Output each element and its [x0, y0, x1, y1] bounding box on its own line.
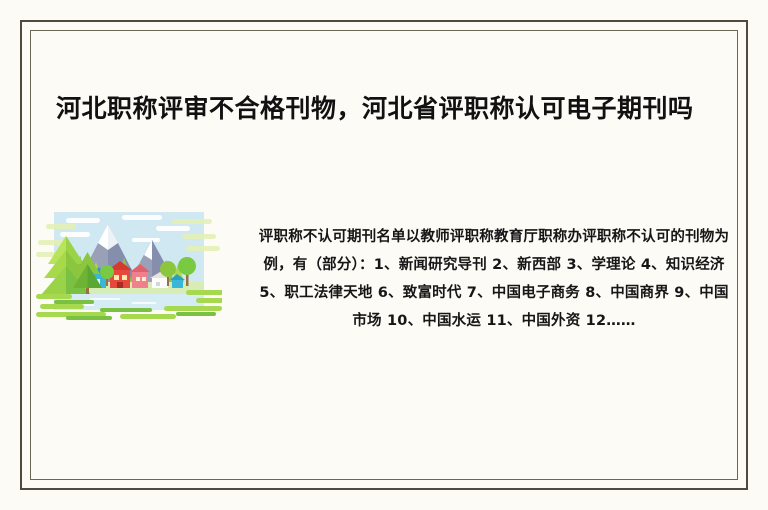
page-title: 河北职称评审不合格刊物，河北省评职称认可电子期刊吗	[56, 91, 716, 127]
article-page: 河北职称评审不合格刊物，河北省评职称认可电子期刊吗	[0, 0, 768, 510]
article-body: 评职称不认可期刊名单以教师评职称教育厅职称办评职称不认可的刊物为例，有（部分）：…	[258, 223, 730, 335]
flat-landscape-illustration	[36, 212, 222, 324]
